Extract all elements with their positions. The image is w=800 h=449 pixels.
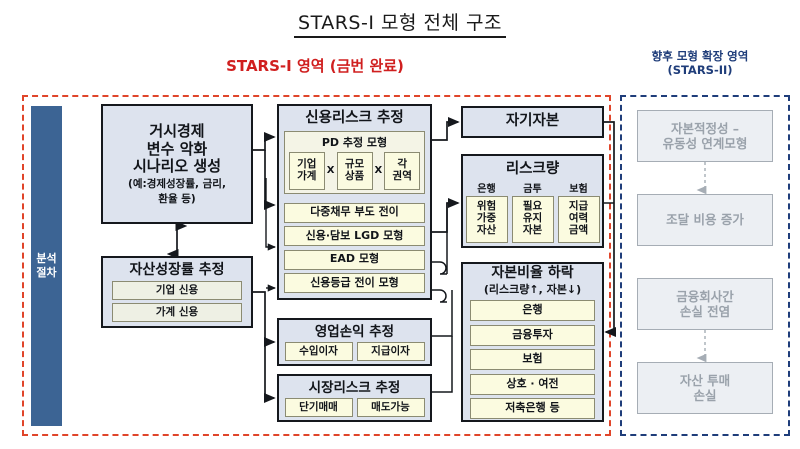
pd-operator-1: X (375, 165, 383, 176)
risk-amount-col-2-value[interactable]: 지급 여력 금액 (558, 196, 600, 243)
box-asset-growth[interactable]: 자산성장률 추정 기업 신용 가계 신용 (101, 256, 253, 328)
risk-amount-col-1-line3: 자본 (523, 225, 542, 237)
box-market-risk[interactable]: 시장리스크 추정 단기매매 매도가능 (277, 374, 432, 422)
box-equity-capital[interactable]: 자기자본 (461, 106, 604, 138)
future-box-2-line1: 금융회사간 (676, 289, 734, 304)
box-credit-risk[interactable]: 신용리스크 추정 PD 추정 모형 기업 가계 X 규모 상품 X (277, 104, 432, 300)
market-risk-item-1[interactable]: 매도가능 (357, 398, 425, 417)
credit-risk-title: 신용리스크 추정 (305, 110, 403, 127)
credit-model-3[interactable]: 신용등급 전이 모형 (284, 273, 425, 293)
market-risk-item-0[interactable]: 단기매매 (285, 398, 353, 417)
box-macro-scenario[interactable]: 거시경제 변수 악화 시나리오 생성 (예:경제성장률, 금리, 환율 등) (101, 104, 253, 224)
macro-note-line2: 환율 등) (158, 193, 195, 206)
pd-factor-2[interactable]: 각 권역 (384, 152, 420, 190)
capital-ratio-sector-1[interactable]: 금융투자 (470, 325, 595, 346)
future-box-capital-liquidity[interactable]: 자본적정성 – 유동성 연계모형 (637, 110, 773, 162)
operating-income-item-0[interactable]: 수입이자 (285, 342, 353, 361)
pd-factor-row: 기업 가계 X 규모 상품 X 각 권역 (289, 152, 420, 190)
operating-income-item-1[interactable]: 지급이자 (357, 342, 425, 361)
pd-factor-2-line2: 권역 (393, 171, 412, 183)
risk-amount-col-1-value[interactable]: 필요 유지 자본 (512, 196, 554, 243)
procedure-bar: 분석 절차 (31, 106, 62, 426)
future-box-firesale[interactable]: 자산 투매 손실 (637, 362, 773, 414)
pd-factor-2-line1: 각 (393, 159, 412, 171)
future-box-0-line2: 유동성 연계모형 (663, 136, 748, 151)
box-risk-amount[interactable]: 리스크량 은행 위험 가중 자산 금투 필요 유지 (461, 154, 604, 248)
capital-ratio-subtitle: (리스크량↑, 자본↓) (484, 281, 581, 297)
capital-ratio-sector-list: 은행 금융투자 보험 상호 · 여전 저축은행 등 (470, 300, 595, 423)
page-title-text: STARS-I 모형 전체 구조 (294, 12, 506, 38)
pd-operator-0: X (327, 165, 335, 176)
pd-factor-1-line2: 상품 (345, 171, 364, 183)
capital-ratio-sector-4[interactable]: 저축은행 등 (470, 398, 595, 419)
caption-stars1: STARS-I 영역 (금번 완료) (80, 58, 550, 76)
future-box-3-line1: 자산 투매 (680, 373, 730, 388)
risk-amount-col-0: 은행 위험 가중 자산 (466, 180, 508, 243)
pd-factor-1[interactable]: 규모 상품 (337, 152, 373, 190)
page-title: STARS-I 모형 전체 구조 (0, 8, 800, 35)
risk-amount-title: 리스크량 (506, 161, 559, 178)
future-box-3-line2: 손실 (680, 388, 730, 403)
risk-amount-col-0-line3: 자산 (477, 225, 496, 237)
credit-model-list: 다중채무 부도 전이 신용·담보 LGD 모형 EAD 모형 신용등급 전이 모… (284, 203, 425, 297)
future-box-2-line2: 손실 전염 (676, 304, 734, 319)
pd-factor-0-line1: 기업 (297, 159, 316, 171)
future-box-funding-cost[interactable]: 조달 비용 증가 (637, 194, 773, 246)
risk-amount-col-1-label: 금투 (523, 180, 541, 195)
risk-amount-col-1: 금투 필요 유지 자본 (512, 180, 554, 243)
future-box-contagion[interactable]: 금융회사간 손실 전염 (637, 278, 773, 330)
asset-growth-title: 자산성장률 추정 (129, 262, 224, 279)
box-operating-income[interactable]: 영업손익 추정 수입이자 지급이자 (277, 318, 432, 366)
risk-amount-col-2-line3: 금액 (569, 225, 588, 237)
diagram-canvas: STARS-I 모형 전체 구조 STARS-I 영역 (금번 완료) 향후 모… (0, 0, 800, 449)
capital-ratio-sector-3[interactable]: 상호 · 여전 (470, 374, 595, 395)
market-risk-title: 시장리스크 추정 (309, 381, 401, 397)
risk-amount-col-2: 보험 지급 여력 금액 (558, 180, 600, 243)
operating-income-title: 영업손익 추정 (315, 325, 394, 341)
pd-factor-0-line2: 가계 (297, 171, 316, 183)
credit-model-1[interactable]: 신용·담보 LGD 모형 (284, 226, 425, 246)
caption-stars2-line1: 향후 모형 확장 영역 (600, 50, 800, 64)
future-box-0-line1: 자본적정성 – (663, 121, 748, 136)
future-box-1-line1: 조달 비용 증가 (666, 212, 744, 227)
capital-ratio-sector-2[interactable]: 보험 (470, 349, 595, 370)
asset-growth-item-1[interactable]: 가계 신용 (112, 303, 242, 322)
risk-amount-col-2-label: 보험 (569, 180, 587, 195)
procedure-bar-line1: 분석 (36, 252, 56, 266)
caption-stars2-line2: (STARS-II) (600, 64, 800, 78)
credit-model-2[interactable]: EAD 모형 (284, 250, 425, 270)
capital-ratio-sector-0[interactable]: 은행 (470, 300, 595, 321)
caption-stars2: 향후 모형 확장 영역 (STARS-II) (600, 50, 800, 77)
macro-note-line1: (예:경제성장률, 금리, (128, 178, 226, 191)
equity-title: 자기자본 (506, 113, 559, 130)
credit-model-0[interactable]: 다중채무 부도 전이 (284, 203, 425, 223)
box-capital-ratio-decline[interactable]: 자본비율 하락 (리스크량↑, 자본↓) 은행 금융투자 보험 상호 · 여전 … (461, 262, 604, 422)
risk-amount-col-0-label: 은행 (477, 180, 495, 195)
risk-amount-columns: 은행 위험 가중 자산 금투 필요 유지 자본 (464, 180, 602, 243)
asset-growth-item-0[interactable]: 기업 신용 (112, 281, 242, 300)
pd-factor-0[interactable]: 기업 가계 (289, 152, 325, 190)
capital-ratio-title: 자본비율 하락 (491, 265, 573, 282)
macro-line3: 시나리오 생성 (133, 158, 221, 176)
procedure-bar-line2: 절차 (36, 266, 56, 280)
pd-model-group: PD 추정 모형 기업 가계 X 규모 상품 X (284, 131, 425, 194)
pd-factor-1-line1: 규모 (345, 159, 364, 171)
macro-line2: 변수 악화 (147, 141, 207, 159)
pd-model-title: PD 추정 모형 (322, 134, 387, 150)
risk-amount-col-0-value[interactable]: 위험 가중 자산 (466, 196, 508, 243)
macro-line1: 거시경제 (149, 123, 204, 141)
